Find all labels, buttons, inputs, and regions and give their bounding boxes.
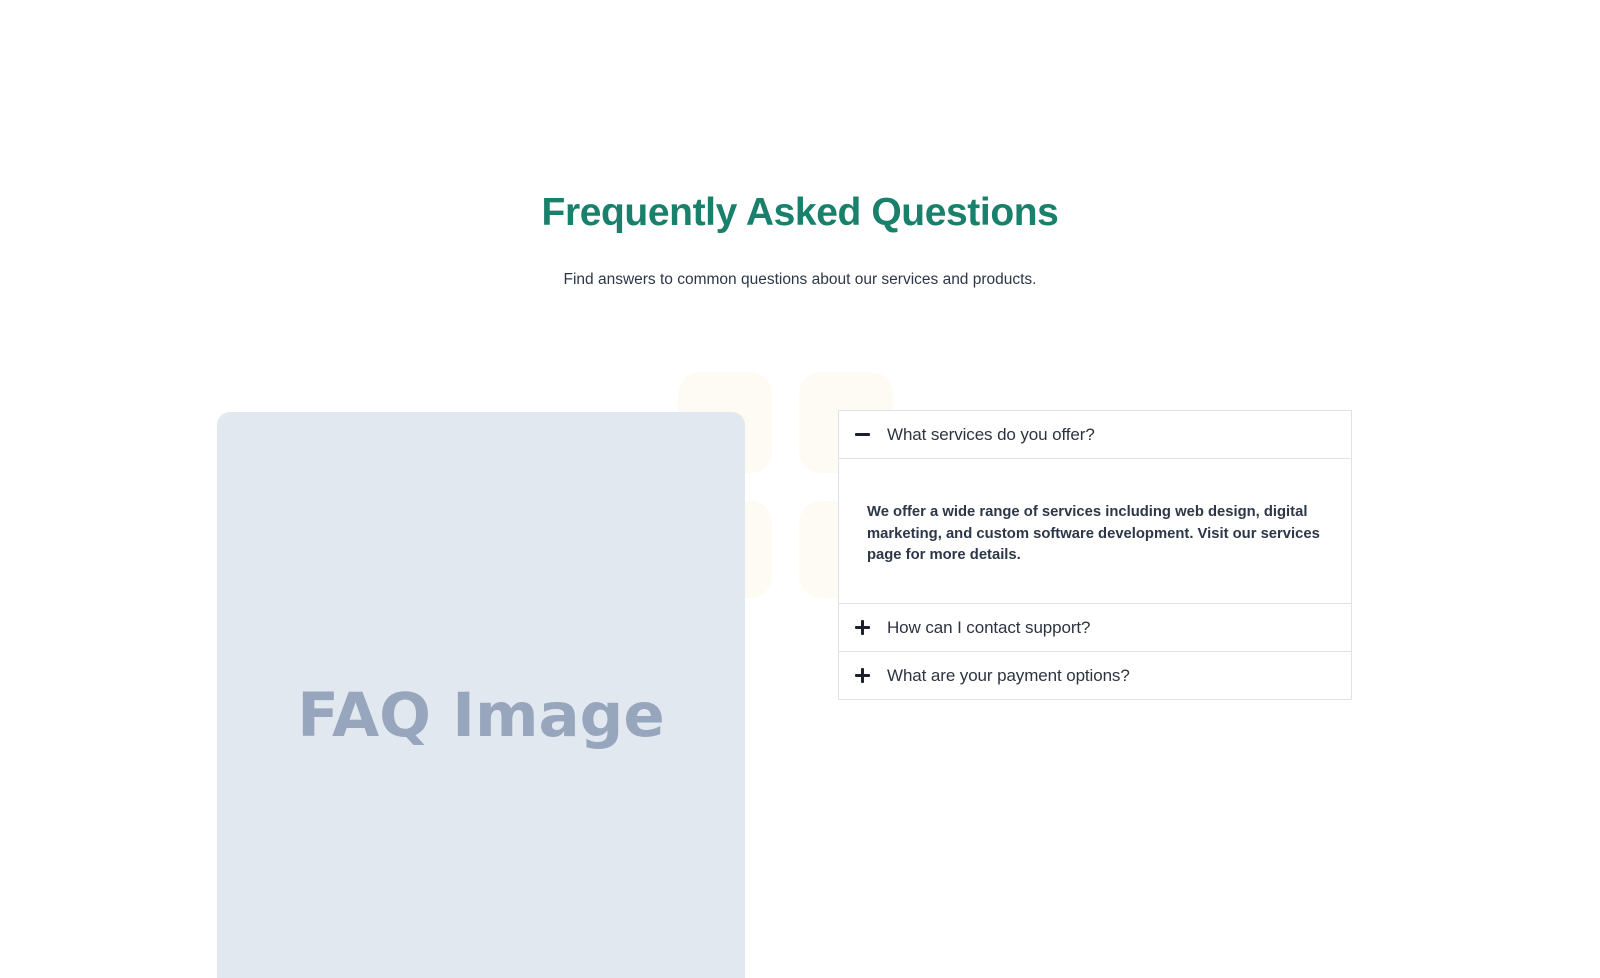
faq-answer-panel-1: We offer a wide range of services includ… — [839, 458, 1351, 603]
faq-item-1: What services do you offer? We offer a w… — [838, 410, 1352, 603]
faq-page: Frequently Asked Questions Find answers … — [0, 0, 1600, 978]
faq-question-label-2: How can I contact support? — [887, 617, 1090, 639]
faq-question-toggle-1[interactable]: What services do you offer? — [839, 411, 1351, 458]
faq-accordion: What services do you offer? We offer a w… — [838, 410, 1352, 700]
page-subtitle: Find answers to common questions about o… — [0, 236, 1600, 291]
faq-image-placeholder-label: FAQ Image — [217, 681, 745, 751]
plus-icon — [854, 667, 871, 684]
page-title: Frequently Asked Questions — [0, 190, 1600, 236]
faq-question-label-1: What services do you offer? — [887, 424, 1095, 446]
faq-question-toggle-2[interactable]: How can I contact support? — [839, 604, 1351, 651]
minus-icon — [854, 426, 871, 443]
faq-item-2: How can I contact support? — [838, 603, 1352, 651]
faq-question-toggle-3[interactable]: What are your payment options? — [839, 652, 1351, 699]
faq-heading-block: Frequently Asked Questions Find answers … — [0, 190, 1600, 291]
faq-answer-text-1: We offer a wide range of services includ… — [867, 502, 1323, 567]
faq-question-label-3: What are your payment options? — [887, 665, 1130, 687]
faq-item-3: What are your payment options? — [838, 651, 1352, 700]
plus-icon — [854, 619, 871, 636]
faq-image-placeholder: FAQ Image — [217, 412, 745, 978]
